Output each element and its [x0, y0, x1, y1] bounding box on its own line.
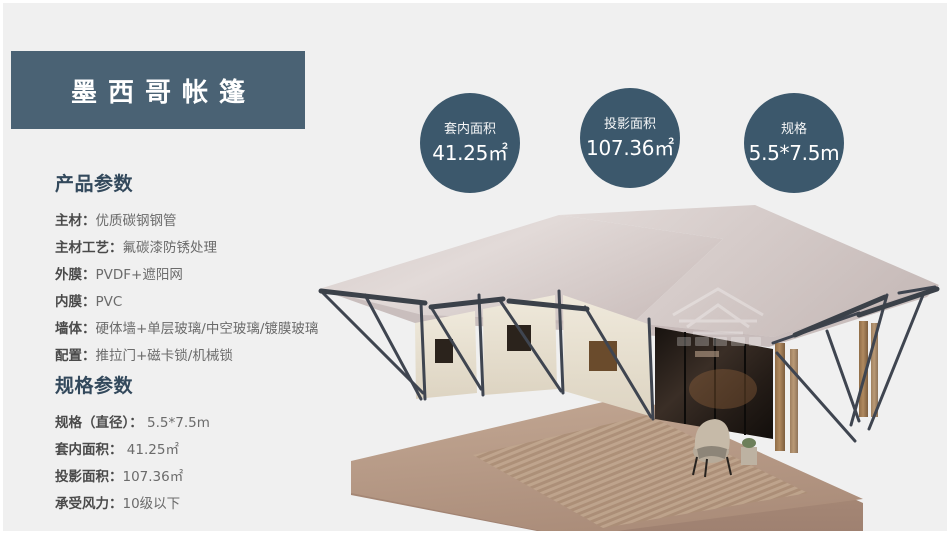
- slide-root: 墨西哥帐篷 产品参数 主材：优质碳钢钢管 主材工艺：氟碳漆防锈处理 外膜：PVD…: [0, 0, 950, 534]
- param-value: PVC: [96, 294, 123, 310]
- stat-badge-indoor-area: 套内面积 41.25㎡: [420, 93, 520, 193]
- title-banner: 墨西哥帐篷: [11, 51, 305, 129]
- stat-badge-value: 5.5*7.5m: [749, 143, 840, 163]
- param-value: PVDF+遮阳网: [96, 267, 183, 283]
- stat-badge-value: 41.25㎡: [432, 143, 507, 163]
- param-label: 内膜：: [55, 294, 96, 310]
- spec-value: 10级以下: [123, 496, 181, 512]
- spec-value: 5.5*7.5m: [143, 415, 210, 431]
- stat-badge-label: 套内面积: [444, 123, 496, 136]
- product-section-heading: 产品参数: [55, 169, 375, 196]
- spec-value: 41.25㎡: [123, 442, 179, 458]
- stat-badge-size: 规格 5.5*7.5m: [744, 93, 844, 193]
- spec-label: 投影面积：: [55, 469, 123, 485]
- param-label: 外膜：: [55, 267, 96, 283]
- param-value: 氟碳漆防锈处理: [123, 240, 218, 256]
- tent-render-image: [303, 203, 950, 534]
- stat-badge-value: 107.36㎡: [586, 138, 674, 158]
- spec-label: 承受风力：: [55, 496, 123, 512]
- page-title: 墨西哥帐篷: [60, 72, 256, 109]
- stat-badge-projected-area: 投影面积 107.36㎡: [580, 88, 680, 188]
- param-label: 主材：: [55, 213, 96, 229]
- param-value: 优质碳钢钢管: [96, 213, 177, 229]
- spec-label: 规格（直径）：: [55, 415, 143, 431]
- spec-value: 107.36㎡: [123, 469, 184, 485]
- spec-label: 套内面积：: [55, 442, 123, 458]
- stat-badge-label: 规格: [781, 123, 807, 136]
- param-value: 硬体墙+单层玻璃/中空玻璃/镀膜玻璃: [96, 321, 319, 337]
- param-label: 墙体：: [55, 321, 96, 337]
- param-label: 配置：: [55, 348, 96, 364]
- param-value: 推拉门+磁卡锁/机械锁: [96, 348, 233, 364]
- param-label: 主材工艺：: [55, 240, 123, 256]
- stat-badge-label: 投影面积: [604, 118, 656, 131]
